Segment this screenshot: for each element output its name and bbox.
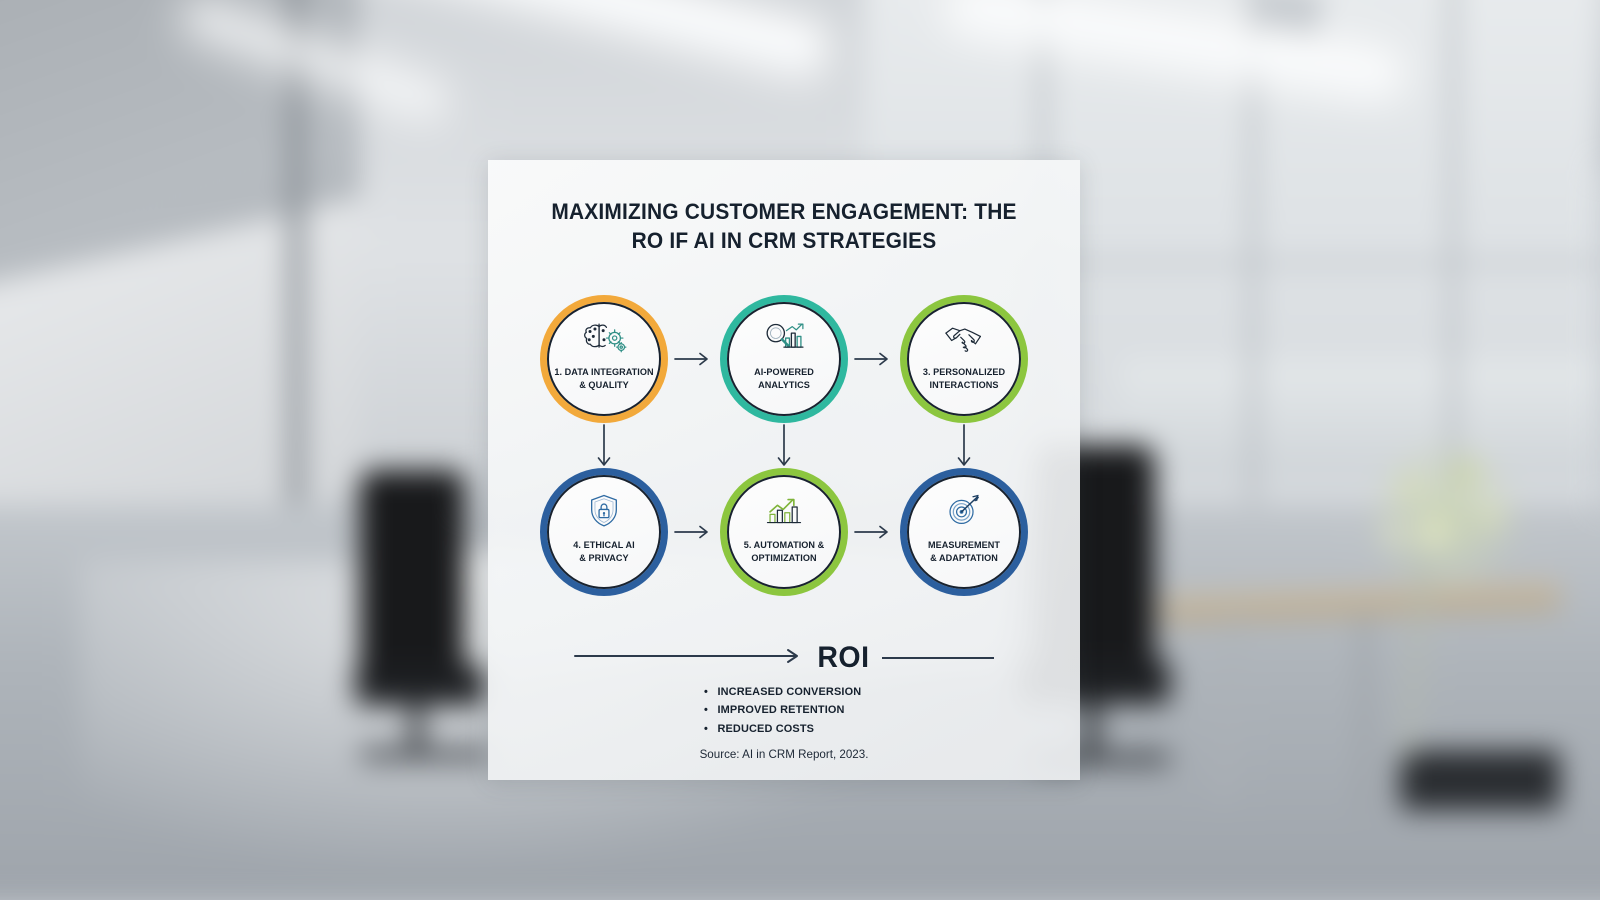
shield-lock-icon: [581, 493, 627, 533]
arrow-down-node2-node5: [775, 424, 793, 474]
arrow-down-node3-node6: [955, 424, 973, 474]
node-label: AI-POWERED ANALYTICS: [733, 367, 836, 392]
office-chair-base: [360, 748, 490, 760]
office-chair-seat: [355, 665, 485, 705]
roi-left-arrow: [574, 647, 804, 670]
process-node-ai-powered-analytics[interactable]: AI-POWERED ANALYTICS: [720, 295, 848, 423]
page-title: MAXIMIZING CUSTOMER ENGAGEMENT: THE RO I…: [538, 198, 1029, 256]
process-node-automation-optimization[interactable]: 5. AUTOMATION & OPTIMIZATION: [720, 468, 848, 596]
office-chair: [360, 470, 465, 685]
list-item: REDUCED COSTS: [704, 720, 861, 738]
plant-foliage: [1380, 450, 1520, 570]
wall-pillar: [290, 0, 304, 520]
arrow-right-node1-node2: [674, 350, 714, 368]
magnifier-bar-chart-icon: [761, 320, 807, 360]
arrow-right-node2-node3: [854, 350, 894, 368]
roi-benefits-list: INCREASED CONVERSION IMPROVED RETENTION …: [488, 683, 1080, 738]
roi-heading: ROI: [817, 641, 869, 675]
node-label: MEASUREMENT & ADAPTATION: [913, 540, 1016, 565]
list-item: INCREASED CONVERSION: [704, 683, 861, 701]
handshake-icon: [941, 320, 987, 360]
infographic-card: MAXIMIZING CUSTOMER ENGAGEMENT: THE RO I…: [488, 160, 1080, 780]
node-label: 1. DATA INTEGRATION & QUALITY: [553, 367, 656, 392]
arrow-right-node4-node5: [674, 523, 714, 541]
source-note: Source: AI in CRM Report, 2023.: [488, 748, 1080, 761]
window-sky-band: [1120, 360, 1600, 480]
office-chair-post: [1085, 700, 1099, 760]
target-dart-icon: [941, 493, 987, 533]
process-node-data-integration[interactable]: 1. DATA INTEGRATION & QUALITY: [540, 295, 668, 423]
page-title-line-1: MAXIMIZING CUSTOMER ENGAGEMENT: THE: [551, 199, 1016, 224]
growth-bar-chart-icon: [761, 493, 807, 533]
process-node-personalized-interactions[interactable]: 3. PERSONALIZED INTERACTIONS: [900, 295, 1028, 423]
list-item: IMPROVED RETENTION: [704, 701, 861, 719]
arrow-right-node5-node6: [854, 523, 894, 541]
node-label: 3. PERSONALIZED INTERACTIONS: [913, 367, 1016, 392]
desk-leg: [1360, 615, 1369, 815]
page-title-line-2: RO IF AI IN CRM STRATEGIES: [632, 228, 937, 253]
dark-furniture: [1400, 750, 1560, 810]
roi-right-rule: [882, 657, 994, 659]
process-node-measurement-adaptation[interactable]: MEASUREMENT & ADAPTATION: [900, 468, 1028, 596]
node-label: 4. ETHICAL AI & PRIVACY: [553, 540, 656, 565]
screenshot-root: MAXIMIZING CUSTOMER ENGAGEMENT: THE RO I…: [0, 0, 1600, 900]
brain-gear-icon: [581, 320, 627, 360]
office-chair-post: [410, 700, 423, 755]
process-node-ethical-ai-privacy[interactable]: 4. ETHICAL AI & PRIVACY: [540, 468, 668, 596]
arrow-down-node1-node4: [595, 424, 613, 474]
roi-band: ROI: [544, 638, 1024, 678]
node-label: 5. AUTOMATION & OPTIMIZATION: [733, 540, 836, 565]
